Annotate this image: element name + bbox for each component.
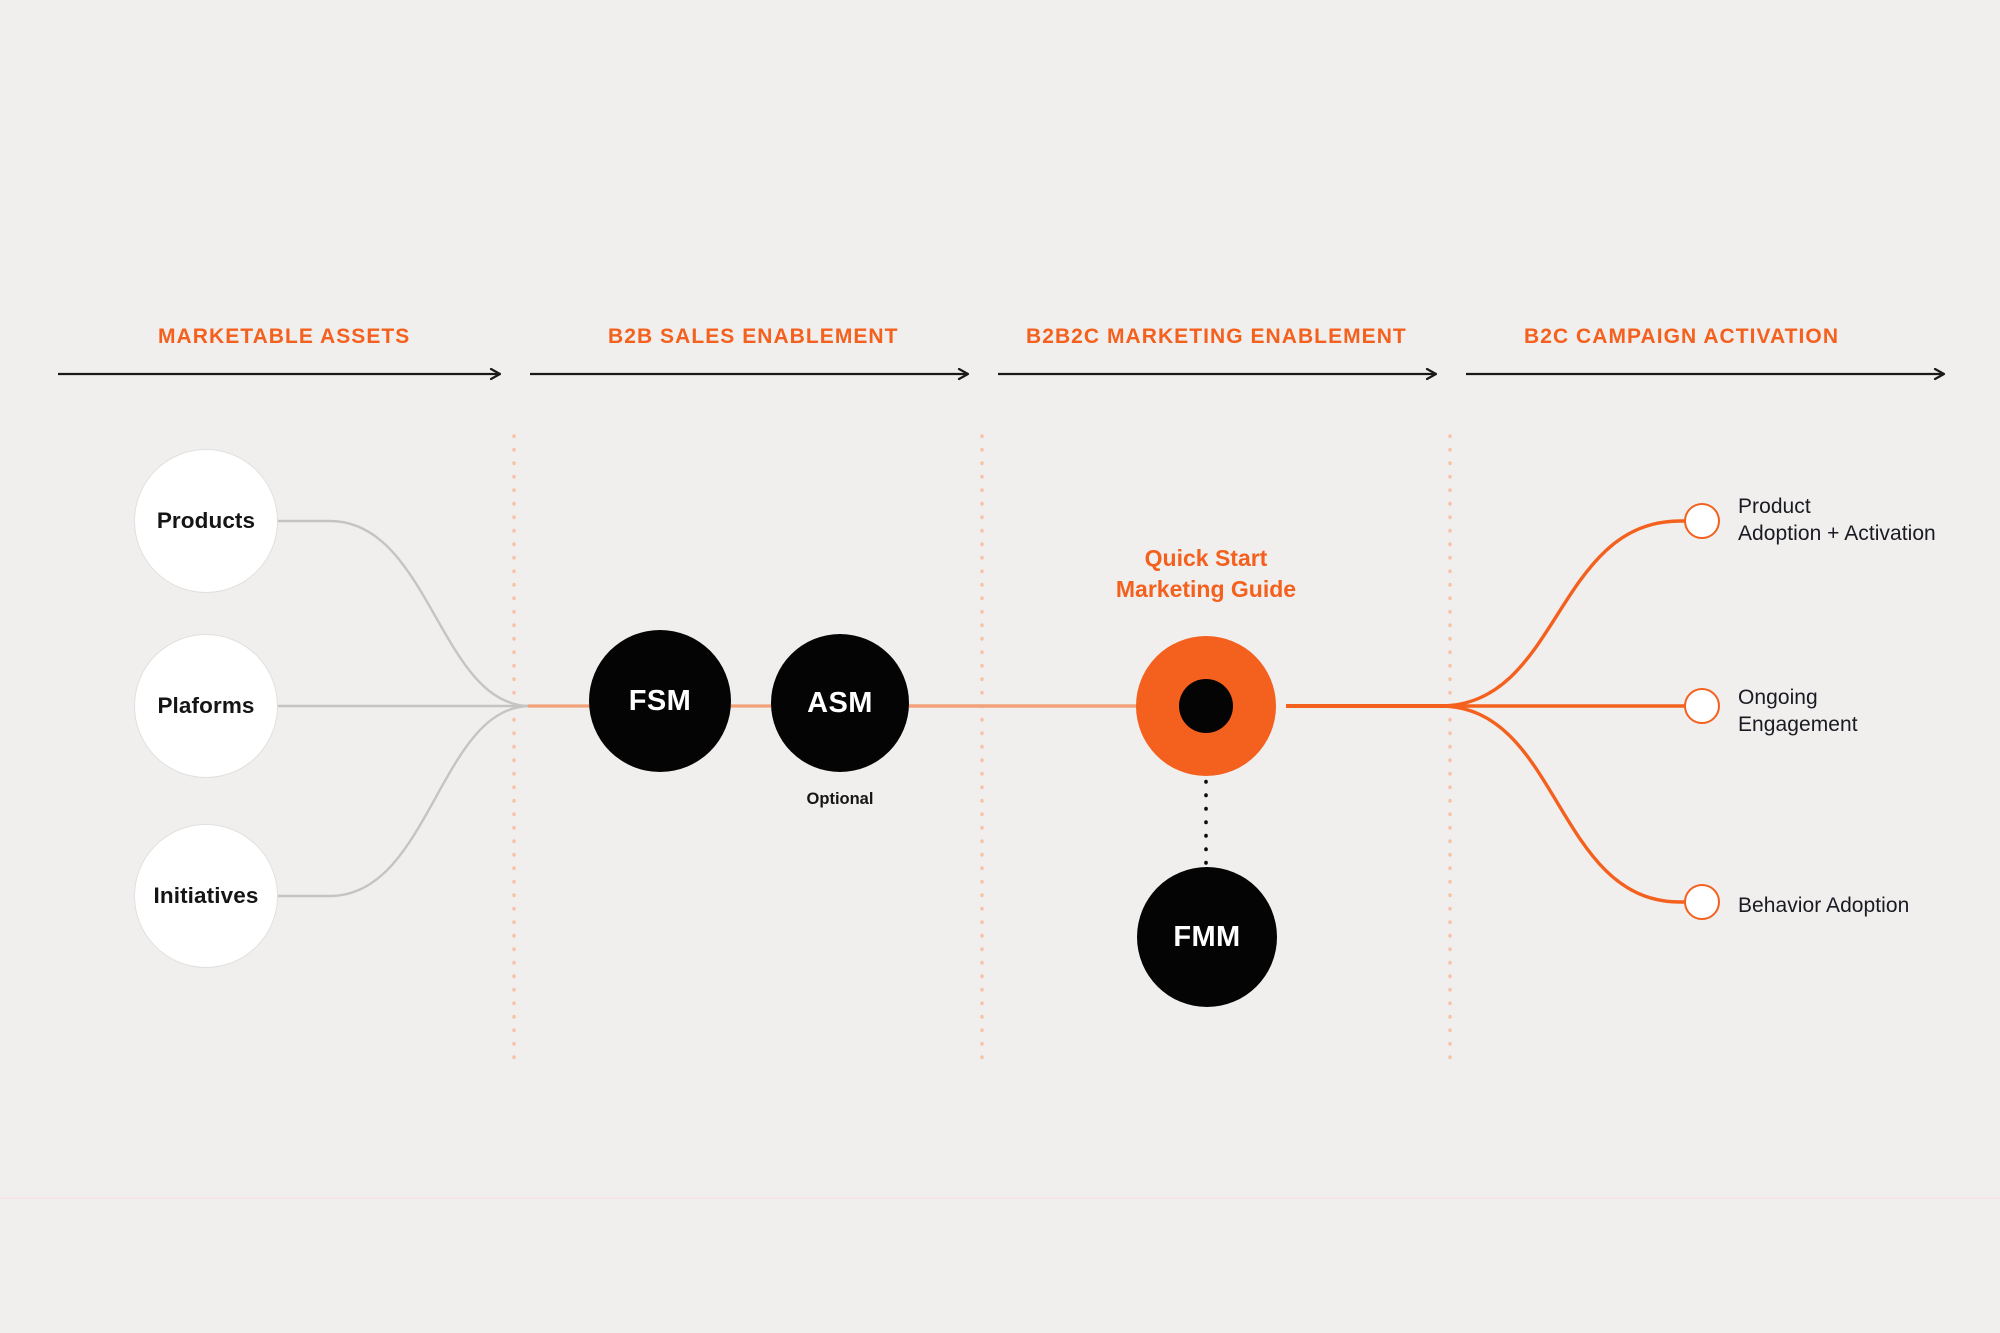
asset-line-initiatives xyxy=(277,706,530,896)
stage-node-label: ASM xyxy=(807,687,873,720)
hub-node-quick-start-marketing-guide[interactable] xyxy=(1136,636,1276,776)
asset-node-label: Initiatives xyxy=(154,883,259,909)
outcome-label-behavior-adoption: Behavior Adoption xyxy=(1738,893,1909,920)
outcome-label-ongoing-engagement: Ongoing Engagement xyxy=(1738,685,1858,739)
asset-line-products xyxy=(277,521,530,706)
phase-label-marketable-assets: MARKETABLE ASSETS xyxy=(158,325,410,349)
asset-node-initiatives[interactable]: Initiatives xyxy=(134,824,278,968)
outcome-dot-product-adoption[interactable] xyxy=(1684,503,1720,539)
stage-node-asm[interactable]: ASM xyxy=(771,634,909,772)
phase-label-b2b-sales-enablement: B2B SALES ENABLEMENT xyxy=(608,325,899,349)
asset-node-platforms[interactable]: Plaforms xyxy=(134,634,278,778)
branch-behavior-adoption xyxy=(1440,706,1692,902)
stage-node-fsm[interactable]: FSM xyxy=(589,630,731,772)
diagram-vector-layer xyxy=(0,0,2000,1333)
phase-label-b2c-campaign-activation: B2C CAMPAIGN ACTIVATION xyxy=(1524,325,1839,349)
outcome-branch-lines xyxy=(1440,521,1692,902)
hub-title: Quick Start Marketing Guide xyxy=(1066,543,1346,605)
asset-node-products[interactable]: Products xyxy=(134,449,278,593)
outcome-dot-behavior-adoption[interactable] xyxy=(1684,884,1720,920)
outcome-label-product-adoption: Product Adoption + Activation xyxy=(1738,494,1936,548)
outcome-dot-ongoing-engagement[interactable] xyxy=(1684,688,1720,724)
hub-title-line-1: Quick Start xyxy=(1145,545,1268,571)
asset-merge-lines xyxy=(277,521,530,896)
branch-product-adoption xyxy=(1440,521,1692,706)
phase-label-b2b2c-marketing-enablement: B2B2C MARKETING ENABLEMENT xyxy=(1026,325,1407,349)
stage-node-label: FMM xyxy=(1173,921,1240,954)
stage-node-fmm[interactable]: FMM xyxy=(1137,867,1277,1007)
asset-node-label: Plaforms xyxy=(157,693,254,719)
diagram-canvas: MARKETABLE ASSETS B2B SALES ENABLEMENT B… xyxy=(0,0,2000,1333)
stage-node-asm-caption: Optional xyxy=(771,790,909,809)
hub-core-dot xyxy=(1179,679,1233,733)
stage-node-label: FSM xyxy=(629,685,691,718)
asset-node-label: Products xyxy=(157,508,255,534)
hub-title-line-2: Marketing Guide xyxy=(1116,576,1296,602)
